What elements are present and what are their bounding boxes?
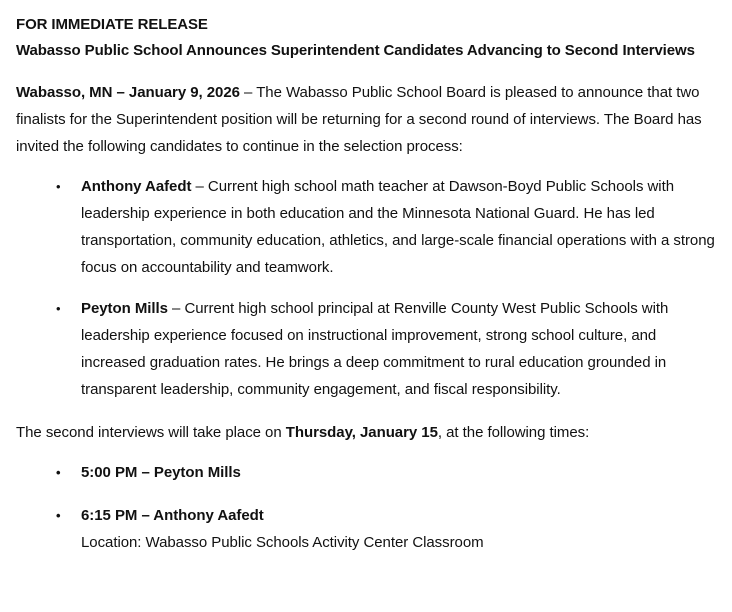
page-title: Wabasso Public School Announces Superint… — [16, 38, 715, 64]
list-item: 5:00 PM – Peyton Mills — [32, 459, 715, 486]
press-release-document: FOR IMMEDIATE RELEASE Wabasso Public Sch… — [0, 0, 732, 612]
candidate-name: Peyton Mills — [81, 300, 168, 317]
candidate-description: – Current high school principal at Renvi… — [81, 300, 668, 398]
candidate-list: Anthony Aafedt – Current high school mat… — [16, 173, 715, 403]
release-tag: FOR IMMEDIATE RELEASE — [16, 12, 715, 38]
headline-block: FOR IMMEDIATE RELEASE Wabasso Public Sch… — [16, 12, 715, 63]
schedule-intro: The second interviews will take place on… — [16, 419, 715, 446]
schedule-time-name: 5:00 PM – Peyton Mills — [81, 464, 241, 481]
schedule-location: Location: Wabasso Public Schools Activit… — [81, 529, 715, 556]
candidate-name: Anthony Aafedt — [81, 178, 191, 195]
spacer-after-headline — [16, 63, 715, 79]
dateline: Wabasso, MN – January 9, 2026 — [16, 84, 240, 101]
lead-paragraph: Wabasso, MN – January 9, 2026 – The Waba… — [16, 79, 715, 160]
list-item: 6:15 PM – Anthony AafedtLocation: Wabass… — [32, 502, 715, 556]
schedule-intro-after: , at the following times: — [438, 424, 589, 441]
schedule-intro-before: The second interviews will take place on — [16, 424, 286, 441]
schedule-date: Thursday, January 15 — [286, 424, 438, 441]
spacer-before-schedule — [16, 403, 715, 419]
schedule-list: 5:00 PM – Peyton Mills 6:15 PM – Anthony… — [16, 459, 715, 556]
list-item: Anthony Aafedt – Current high school mat… — [32, 173, 715, 281]
spacer-before-candidates — [16, 160, 715, 173]
list-item: Peyton Mills – Current high school princ… — [32, 295, 715, 403]
spacer-before-times — [16, 446, 715, 459]
schedule-time-name: 6:15 PM – Anthony Aafedt — [81, 507, 264, 524]
